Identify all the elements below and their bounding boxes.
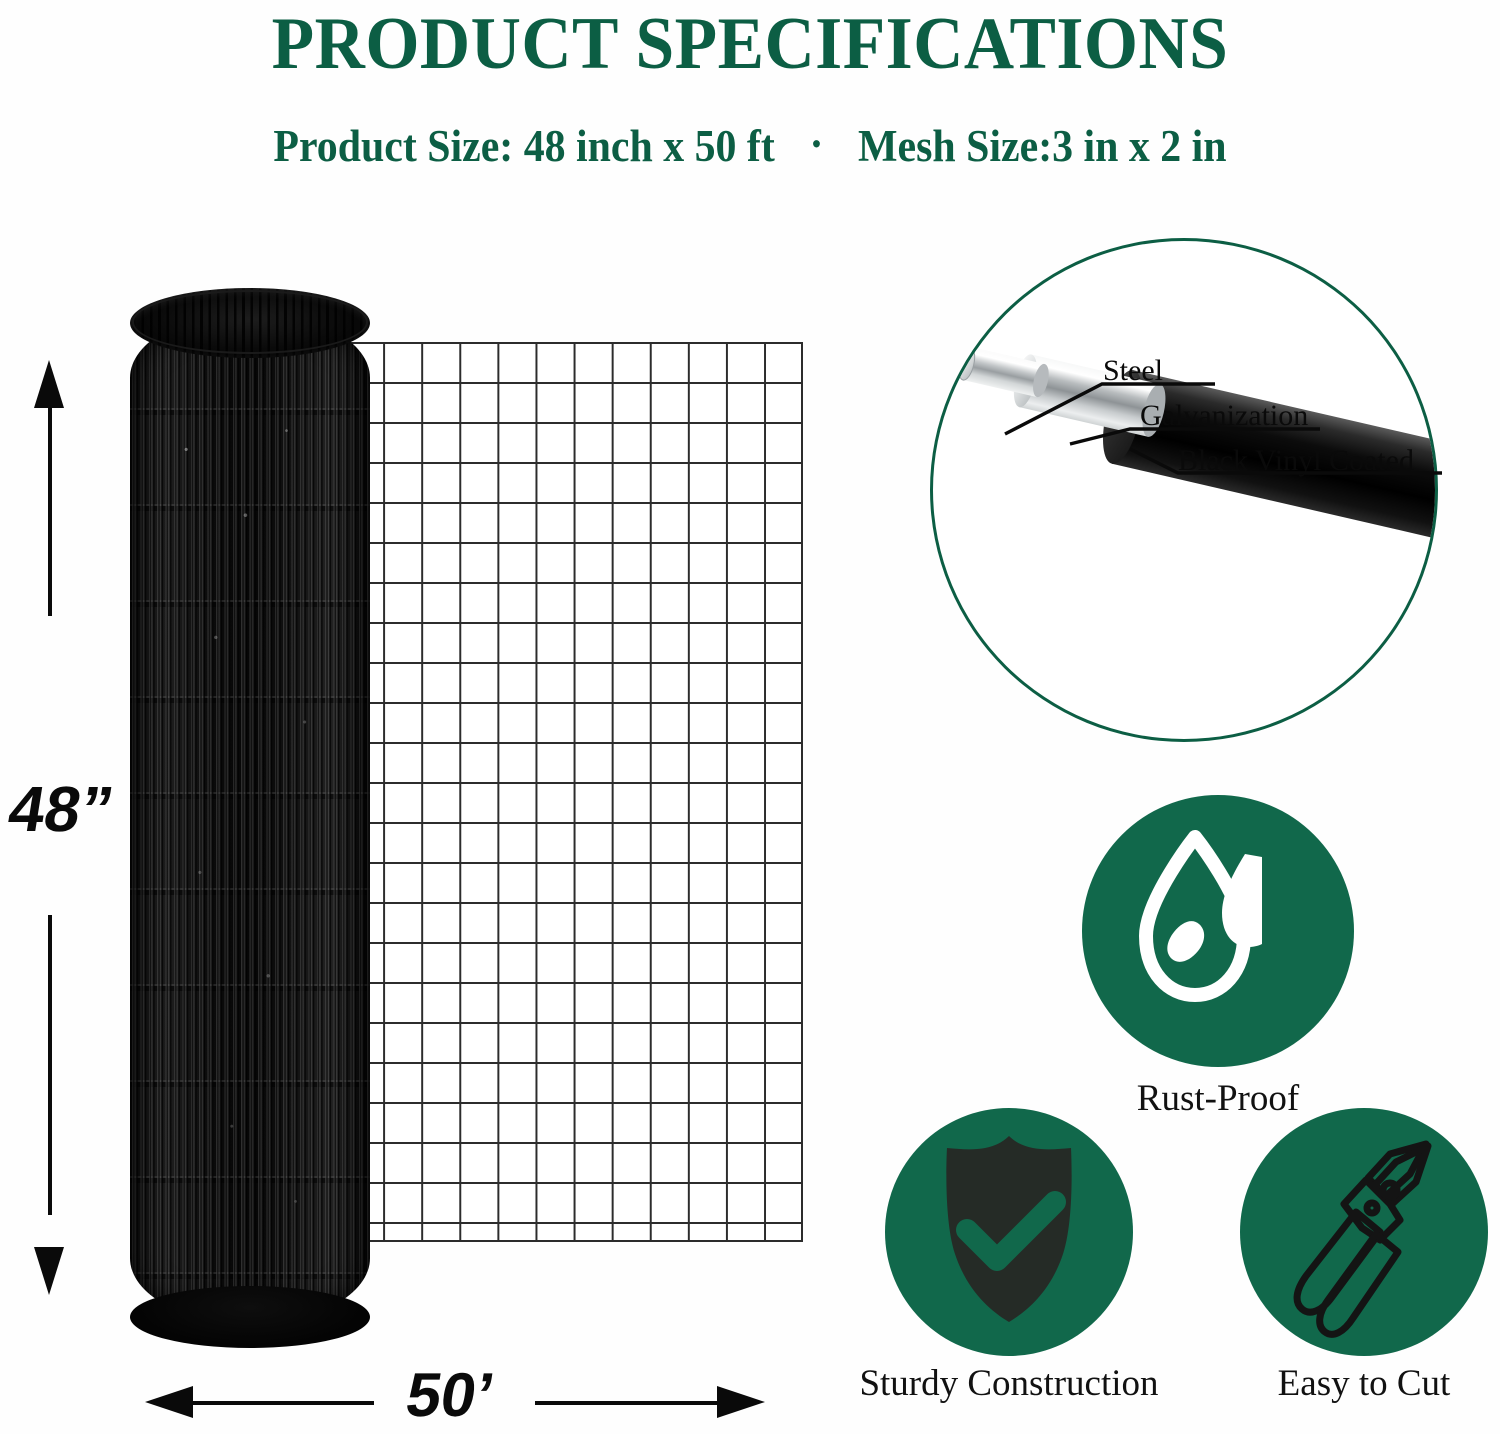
wire-mesh-roll xyxy=(130,288,370,1348)
roll-highlights xyxy=(136,346,364,1286)
arrow-shaft-left xyxy=(189,1401,374,1405)
feature-badge-sturdy-construction: Sturdy Construction xyxy=(885,1108,1133,1356)
roll-top-rim xyxy=(132,290,368,354)
roll-top-ellipse xyxy=(130,288,370,358)
arrow-head-down-icon xyxy=(34,1247,64,1295)
callout-leader-lines xyxy=(930,238,1450,748)
water-drop-icon xyxy=(1082,795,1354,1067)
arrow-head-right-icon xyxy=(717,1386,765,1418)
feature-badge-rust-proof: Rust-Proof xyxy=(1082,795,1354,1067)
feature-label: Easy to Cut xyxy=(1278,1362,1451,1405)
height-dimension-label: 48” xyxy=(0,772,132,846)
wire-mesh-sheet xyxy=(345,342,803,1242)
badge-disc xyxy=(1082,795,1354,1067)
roll-bottom-ellipse xyxy=(130,1286,370,1348)
badge-disc xyxy=(885,1108,1133,1356)
callout-label-steel: Steel xyxy=(1103,354,1163,388)
length-dimension-label: 50’ xyxy=(354,1360,545,1431)
callout-label-galvanization: Galvanization xyxy=(1140,399,1308,433)
arrow-shaft-upper xyxy=(48,398,52,616)
arrow-head-left-icon xyxy=(145,1386,193,1418)
mesh-size-text: Mesh Size:3 in x 2 in xyxy=(858,121,1227,171)
shield-check-icon xyxy=(885,1108,1133,1356)
arrow-shaft-right xyxy=(535,1401,725,1405)
badge-disc xyxy=(1240,1108,1488,1356)
feature-label: Sturdy Construction xyxy=(859,1362,1158,1405)
feature-badge-easy-to-cut: Easy to Cut xyxy=(1240,1108,1488,1356)
callout-label-black-vinyl-coated: Black Vinyl Coated xyxy=(1178,444,1414,478)
arrow-shaft-lower xyxy=(48,915,52,1215)
length-dimension-arrow: 50’ xyxy=(145,1382,765,1424)
roll-body xyxy=(130,312,370,1324)
infographic-canvas: PRODUCT SPECIFICATIONS Product Size: 48 … xyxy=(0,0,1500,1434)
product-illustration: 48” 50’ xyxy=(0,0,860,1434)
pliers-icon xyxy=(1240,1108,1488,1356)
